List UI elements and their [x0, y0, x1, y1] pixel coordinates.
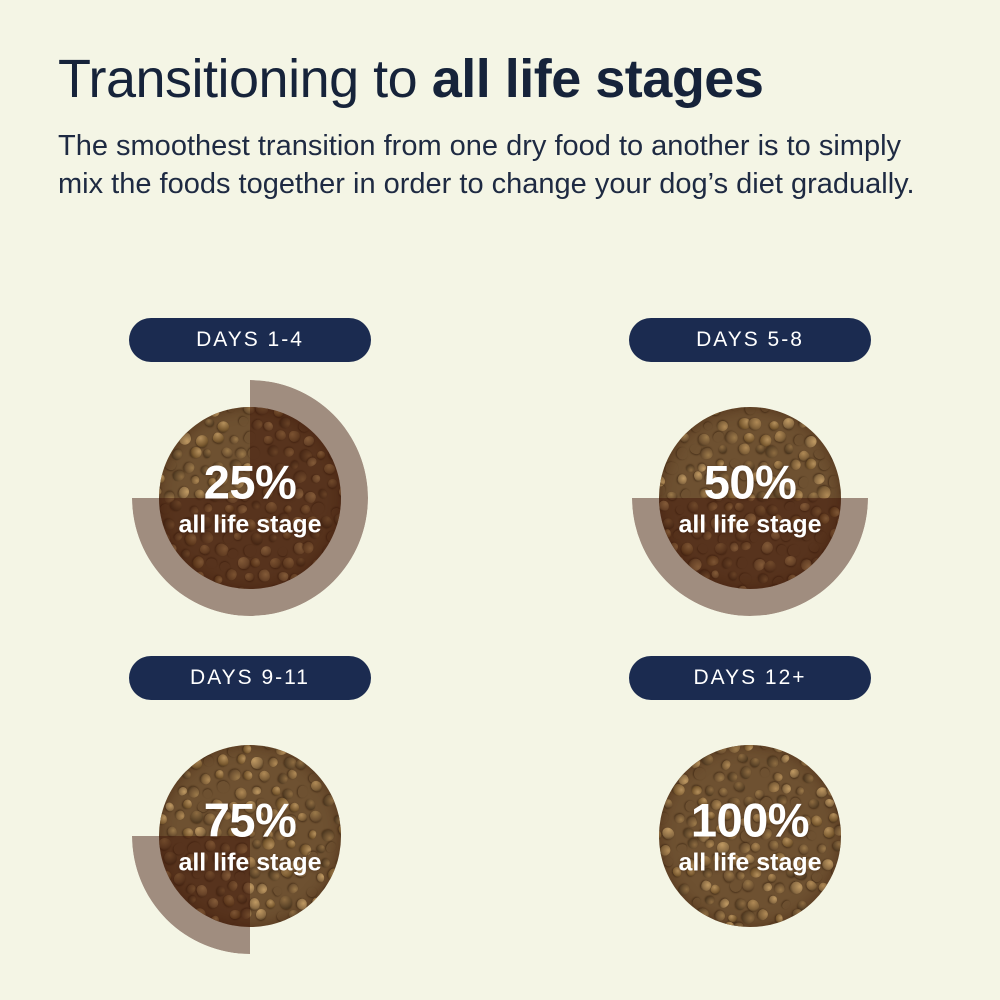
page-title-strong: all life stages: [432, 49, 764, 109]
kibble-texture: [159, 407, 341, 589]
header: Transitioning to all life stages The smo…: [58, 52, 958, 203]
day-range-badge: DAYS 1-4: [129, 318, 371, 362]
page-title: Transitioning to all life stages: [58, 52, 958, 106]
kibble-area: [159, 745, 341, 927]
transition-step: DAYS 12+100%all life stage: [500, 656, 1000, 994]
transition-step: DAYS 9-1175%all life stage: [0, 656, 500, 994]
food-bowl: 100%all life stage: [632, 718, 868, 954]
infographic-page: Transitioning to all life stages The smo…: [0, 0, 1000, 1000]
bowl-wrapper: 50%all life stage: [632, 380, 868, 616]
transition-step: DAYS 5-850%all life stage: [500, 318, 1000, 656]
page-subtitle: The smoothest transition from one dry fo…: [58, 128, 928, 203]
kibble-texture: [659, 745, 841, 927]
food-bowl: 75%all life stage: [132, 718, 368, 954]
bowl-wrapper: 75%all life stage: [132, 718, 368, 954]
day-range-badge: DAYS 5-8: [629, 318, 871, 362]
bowl-wrapper: 25%all life stage: [132, 380, 368, 616]
page-title-regular: Transitioning to: [58, 49, 432, 109]
food-bowl: 50%all life stage: [632, 380, 868, 616]
kibble-area: [659, 407, 841, 589]
day-range-badge: DAYS 12+: [629, 656, 871, 700]
transition-step: DAYS 1-425%all life stage: [0, 318, 500, 656]
bowl-wrapper: 100%all life stage: [632, 718, 868, 954]
kibble-area: [159, 407, 341, 589]
kibble-texture: [659, 407, 841, 589]
food-bowl: 25%all life stage: [132, 380, 368, 616]
kibble-texture: [159, 745, 341, 927]
transition-steps: DAYS 1-425%all life stageDAYS 5-850%all …: [0, 318, 1000, 994]
day-range-badge: DAYS 9-11: [129, 656, 371, 700]
kibble-area: [659, 745, 841, 927]
